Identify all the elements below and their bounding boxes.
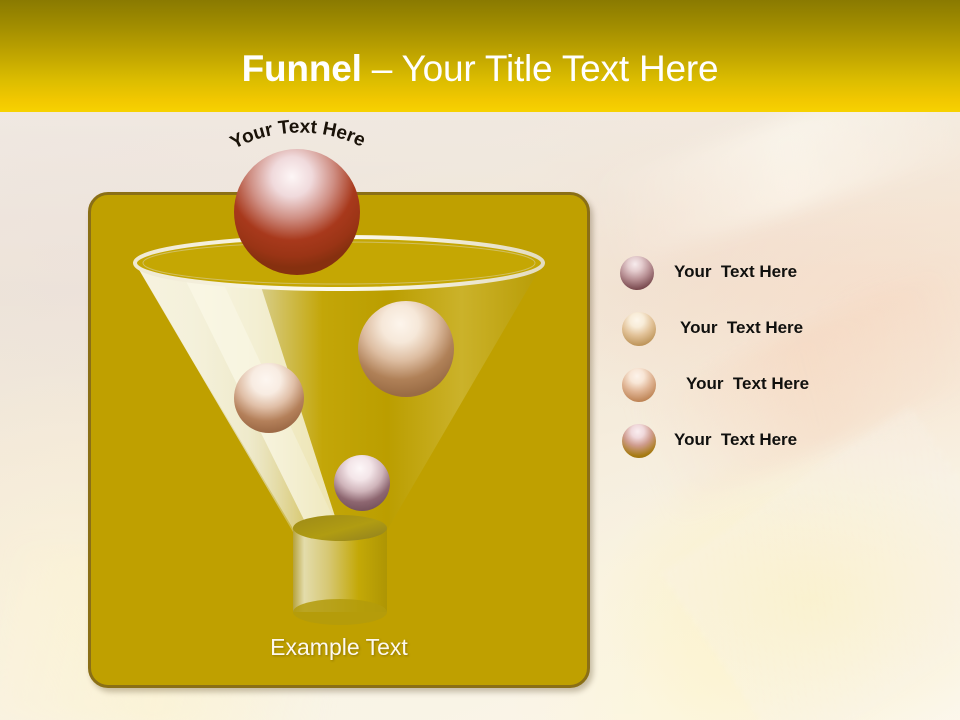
page-title: Funnel – Your Title Text Here [0,50,960,87]
legend-item-label: Your Text Here [674,262,797,282]
funnel-tube-bottom [293,599,387,625]
title-band: Funnel – Your Title Text Here [0,0,960,112]
sphere-right[interactable] [358,301,454,397]
legend-item[interactable]: Your Text Here [620,420,920,476]
legend-bullet-icon [620,256,654,290]
legend-item[interactable]: Your Text Here [620,364,920,420]
legend-item-label: Your Text Here [680,318,803,338]
legend-item-label: Your Text Here [686,374,809,394]
page-title-rest: – Your Title Text Here [362,48,719,89]
arc-caption-text: Your Text Here [227,117,369,154]
legend-item[interactable]: Your Text Here [620,252,920,308]
legend-bullet-icon [622,368,656,402]
legend-item-label: Your Text Here [674,430,797,450]
legend-bullet-icon [622,312,656,346]
slide-canvas: Funnel – Your Title Text Here Example Te… [0,0,960,720]
funnel-tube-top [293,515,387,541]
legend-item[interactable]: Your Text Here [620,308,920,364]
legend-bullet-icon [622,424,656,458]
funnel-diagram[interactable] [88,130,590,630]
arc-caption-graphic: Your Text Here [196,116,406,186]
sphere-bottom[interactable] [334,455,390,511]
page-title-strong: Funnel [242,48,362,89]
sphere-left[interactable] [234,363,304,433]
panel-caption: Example Text [91,634,587,661]
legend-list: Your Text Here Your Text Here Your Text … [620,252,920,476]
